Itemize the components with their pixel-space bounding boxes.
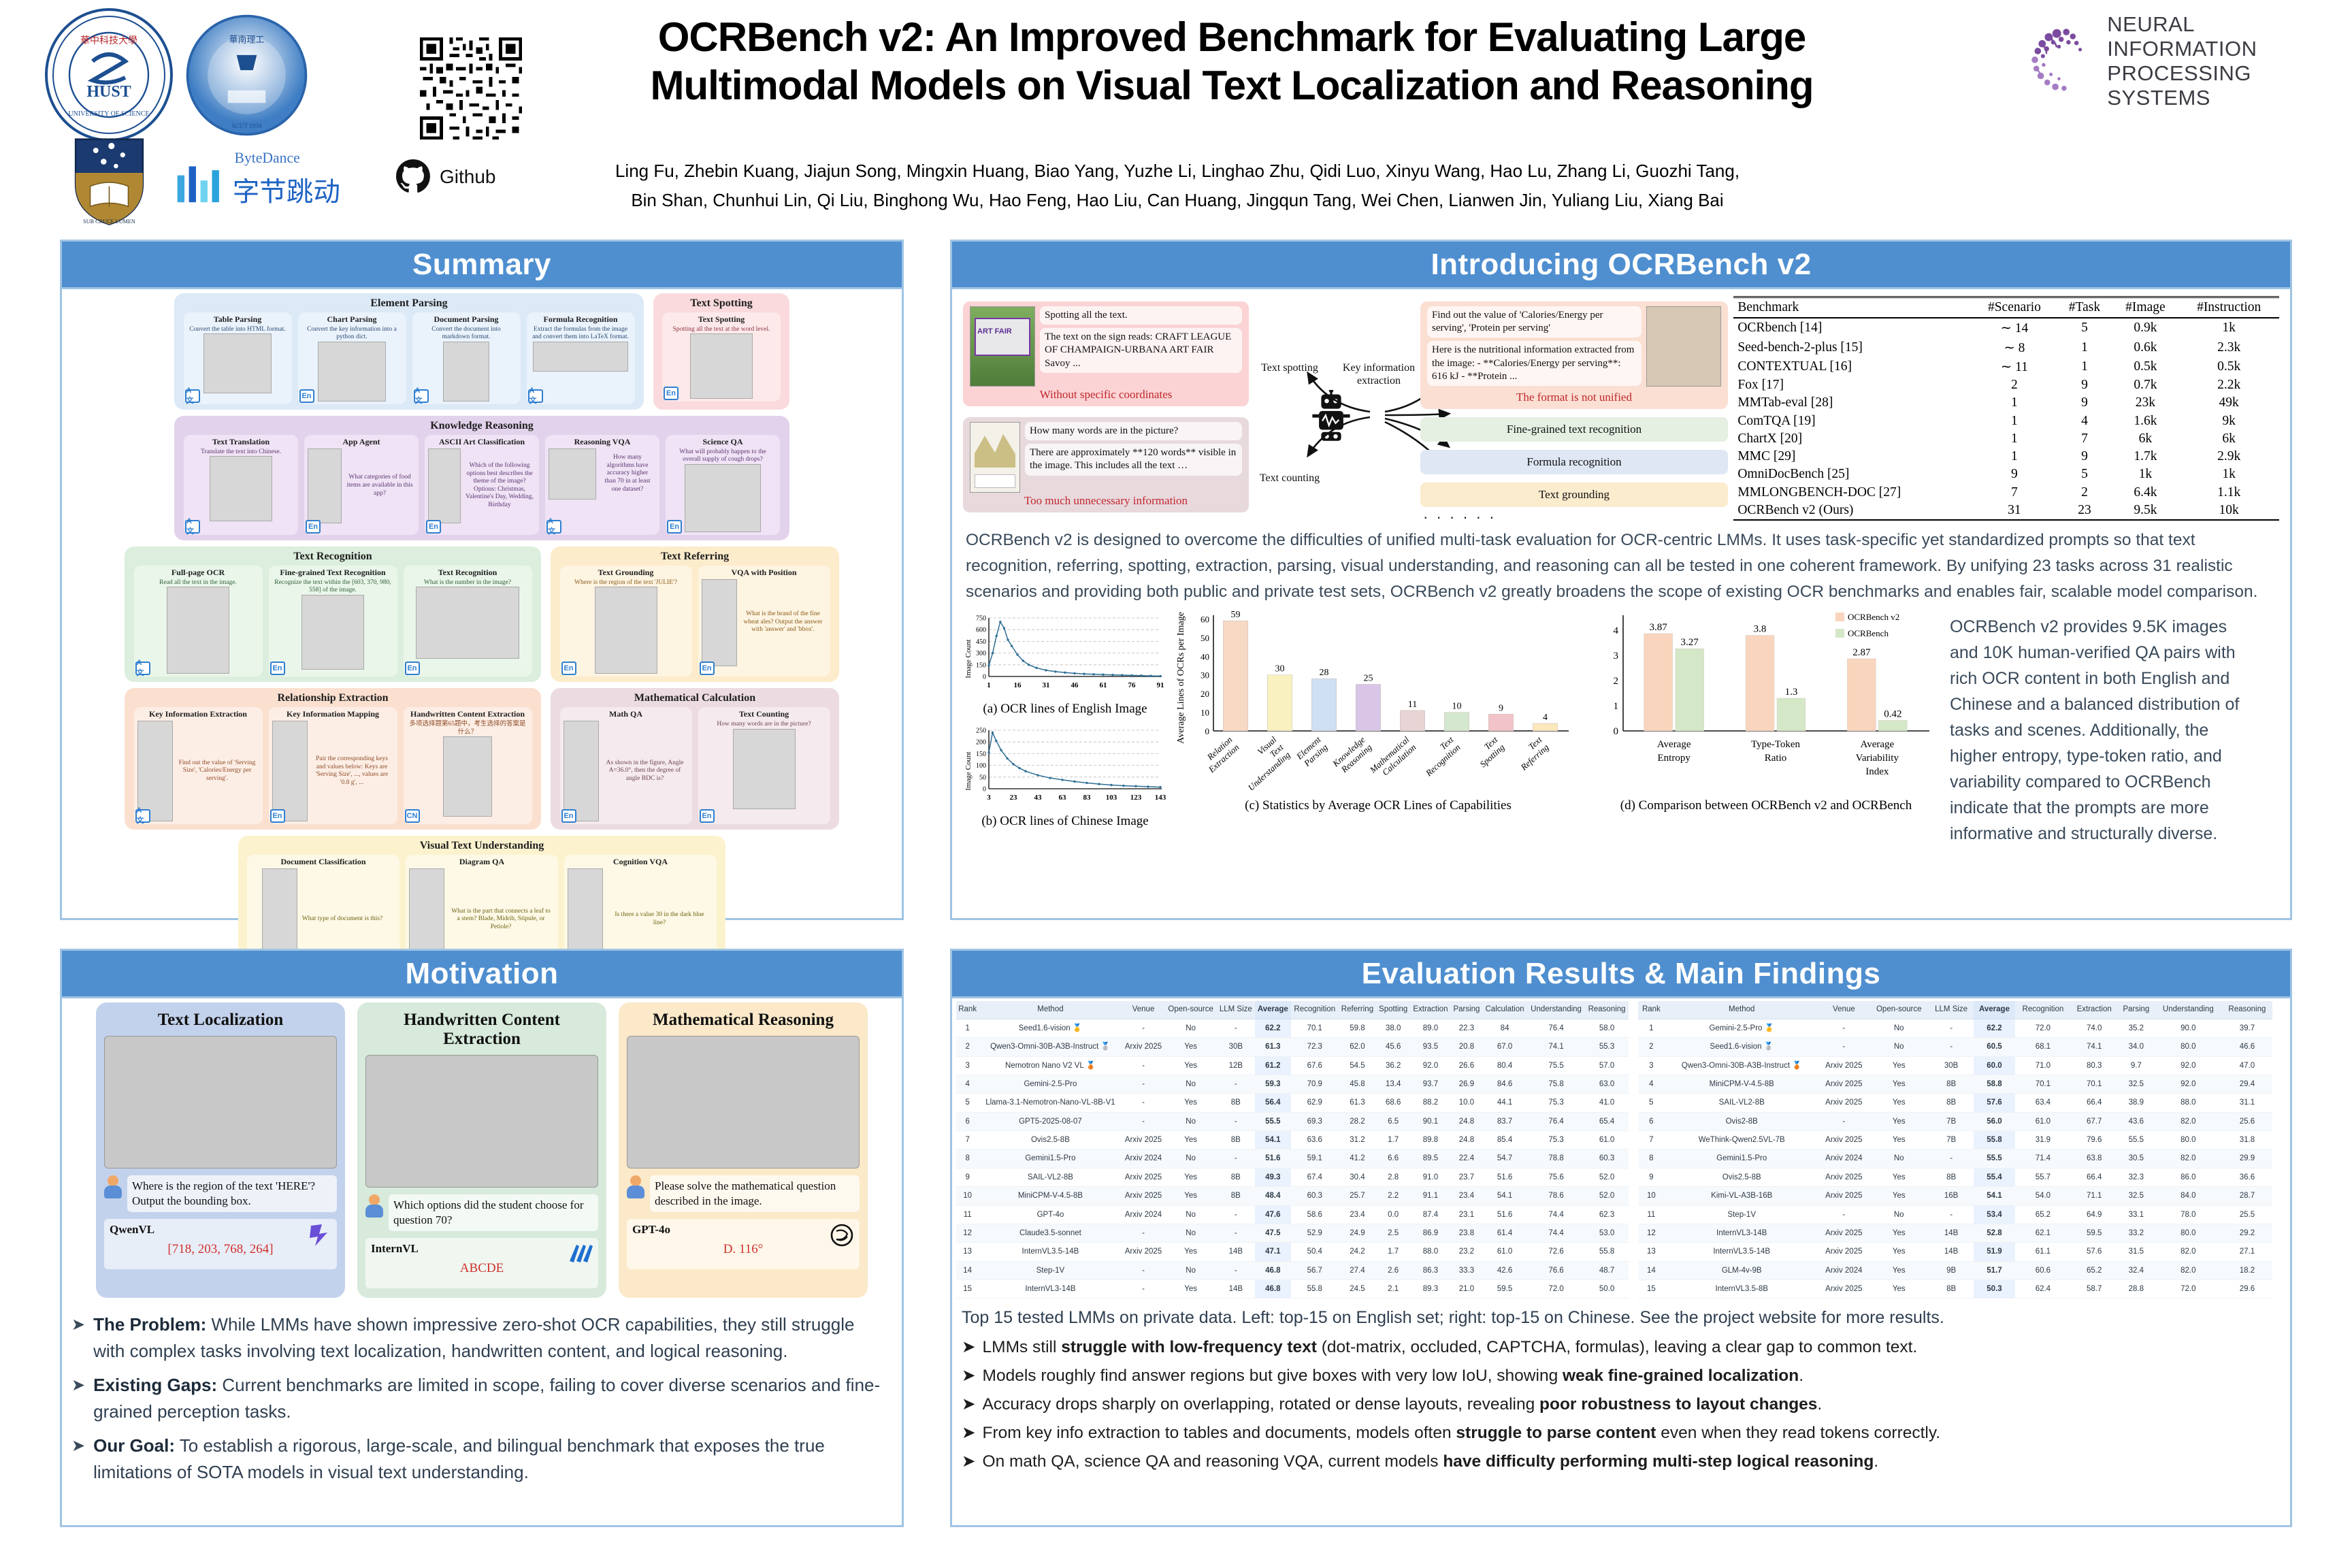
task-card[interactable]: Text GroundingWhere is the region of the…	[560, 566, 692, 676]
leaderboard-cell: 57.0	[1585, 1056, 1629, 1075]
data-point	[987, 751, 990, 753]
summary-panel-header: Summary	[62, 242, 902, 289]
leaderboard-cell: 23.7	[1451, 1168, 1482, 1186]
task-card-prompt: As shown in the figure, Angle A=36.0°, t…	[602, 759, 689, 783]
motivation-answer-box: QwenVL[718, 203, 768, 264]	[104, 1219, 337, 1269]
motivation-model-answer: D. 116°	[632, 1242, 854, 1257]
leaderboard-cell: 6.6	[1376, 1149, 1410, 1168]
leaderboard-cell: 51.6	[1482, 1205, 1527, 1224]
data-point	[1018, 767, 1020, 769]
leaderboard-cell: 71.4	[2015, 1149, 2070, 1168]
data-point	[1006, 757, 1008, 759]
task-card-thumbnail	[203, 333, 272, 393]
leaderboard-cell: 54.5	[1339, 1056, 1376, 1075]
leaderboard-cell: 93.5	[1410, 1038, 1451, 1056]
leaderboard-cell: 14B	[1217, 1243, 1255, 1261]
leaderboard-cell: 31.2	[1339, 1131, 1376, 1149]
leaderboard-row: 8Gemini1.5-ProArxiv 2024No-55.571.463.83…	[1638, 1149, 2272, 1168]
leaderboard-cell: 55.8	[1291, 1280, 1339, 1298]
leaderboard-cell: 15	[956, 1280, 979, 1298]
leaderboard-cell: 74.4	[1527, 1205, 1585, 1224]
finding-item: ➤On math QA, science QA and reasoning VQ…	[962, 1450, 2281, 1474]
evaluation-title: Evaluation Results & Main Findings	[1362, 957, 1881, 991]
y-tick: 0	[983, 673, 986, 681]
leaderboard-cell: 62.1	[2015, 1224, 2070, 1242]
leaderboard-col-header: Rank	[956, 1001, 979, 1019]
x-tick: 143	[1155, 794, 1166, 802]
task-card[interactable]: Formula RecognitionExtract the formulas …	[527, 312, 635, 404]
y-tick: 50	[979, 774, 986, 781]
bullet-arrow-icon: ➤	[71, 1311, 85, 1365]
task-card-prompt: How many words are in the picture?	[715, 721, 813, 729]
y-tick: 30	[1200, 670, 1209, 680]
data-point	[1140, 674, 1142, 676]
leaderboard-cell: 92.0	[2155, 1056, 2222, 1075]
task-card[interactable]: Text SpottingSpotting all the text at th…	[662, 312, 781, 402]
task-taxonomy-figure: Element ParsingTable ParsingConvert the …	[62, 289, 902, 986]
poster-root: HUST 華中科技大學 UNIVERSITY OF SCIENCE 華南理工 S…	[0, 0, 2352, 1568]
task-card[interactable]: App AgentWhat categories of food items a…	[304, 435, 419, 535]
taxonomy-row: Element ParsingTable ParsingConvert the …	[69, 293, 895, 410]
bar-value-label: 3.27	[1681, 637, 1699, 648]
task-card-prompt: Which of the following options best desc…	[463, 462, 536, 509]
leaderboard-row: 5SAIL-VL2-8BArxiv 2025Yes8B57.663.466.43…	[1638, 1094, 2272, 1112]
data-point	[1102, 673, 1104, 675]
leaderboard-cell: 89.0	[1410, 1019, 1451, 1037]
motivation-model-name: GPT-4o	[632, 1223, 854, 1237]
leaderboard-cell: 70.1	[2015, 1075, 2070, 1093]
leaderboard-cell: 71.1	[2071, 1187, 2118, 1205]
task-card-body: As shown in the figure, Angle A=36.0°, t…	[563, 721, 689, 821]
neurips-mark	[2025, 24, 2097, 98]
bench-table-cell: 1k	[2112, 465, 2178, 483]
leaderboard-cell: 51.9	[1974, 1243, 2016, 1261]
leaderboard-col-header: Open-source	[1869, 1001, 1929, 1019]
bench-table-row: OmniDocBench [25]951k1k	[1733, 465, 2279, 483]
y-tick: 0	[1614, 726, 1619, 737]
chart-b-caption: (b) OCR lines of Chinese Image	[963, 814, 1167, 829]
leaderboard-cell: 28.8	[2118, 1280, 2155, 1298]
motivation-model-answer: [718, 203, 768, 264]	[110, 1242, 331, 1257]
leaderboard-row: 6GPT5-2025-08-07-No-55.569.328.26.590.12…	[956, 1112, 1629, 1130]
task-card[interactable]: Key Information ExtractionFind out the v…	[134, 707, 263, 824]
leaderboard-cell: 63.8	[2071, 1149, 2118, 1168]
leaderboard-row: 15InternVL3.5-8BArxiv 2025Yes8B50.362.45…	[1638, 1280, 2272, 1298]
chart-c-ylabel: Average Lines of OCRs per Image	[1176, 612, 1186, 744]
language-badge: En	[270, 661, 285, 675]
bullet-arrow-icon: ➤	[71, 1433, 85, 1486]
x-tick: 1	[987, 681, 991, 689]
motivation-answer-box: InternVLABCDE	[365, 1238, 598, 1288]
motivation-question-row: Which options did the student choose for…	[365, 1194, 598, 1231]
bar-value-label: 9	[1499, 703, 1503, 713]
leaderboard-cell: 8B	[1217, 1131, 1255, 1149]
leaderboard-cell: 44.1	[1482, 1094, 1527, 1112]
leaderboard-row: 2Seed1.6-vision 🥈-No-60.568.174.134.080.…	[1638, 1038, 2272, 1056]
leaderboard-cell: Nemotron Nano V2 VL 🥉	[979, 1056, 1122, 1075]
leaderboard-cell: 54.1	[1974, 1187, 2016, 1205]
leaderboard-cell: 1	[1638, 1019, 1665, 1037]
leaderboard-row: 14Step-1V-No-46.856.727.42.686.333.342.6…	[956, 1261, 1629, 1279]
bench-table-cell: 1	[1972, 412, 2057, 430]
task-card-prompt: What will probably happen to the overall…	[669, 448, 777, 464]
leaderboard-cell: Gemini1.5-Pro	[979, 1149, 1122, 1168]
leaderboard-cell: 36.2	[1376, 1056, 1410, 1075]
motivation-bullet: ➤Existing Gaps: Current benchmarks are l…	[71, 1372, 887, 1425]
leaderboard-col-header: LLM Size	[1929, 1001, 1974, 1019]
task-card[interactable]: Key Information MappingPair the correspo…	[269, 707, 397, 824]
leaderboard-cell: -	[1217, 1261, 1255, 1279]
taxonomy-row: Relationship ExtractionKey Information E…	[69, 688, 895, 830]
task-card-title: Full-page OCR	[171, 568, 225, 578]
leaderboard-col-header: Method	[1665, 1001, 1819, 1019]
leaderboard-row: 4Gemini-2.5-Pro-No-59.370.945.813.493.72…	[956, 1075, 1629, 1093]
task-card[interactable]: ASCII Art ClassificationWhich of the fol…	[425, 435, 539, 535]
taxonomy-group-title: Relationship Extraction	[131, 692, 534, 704]
leaderboard-cell: 8B	[1929, 1094, 1974, 1112]
leaderboard-cell: 7B	[1929, 1112, 1974, 1130]
user-avatar-icon	[104, 1175, 122, 1198]
leaderboard-cell: 9	[956, 1168, 979, 1186]
user-avatar-icon	[365, 1194, 383, 1218]
leaderboard-cell: 53.0	[1585, 1224, 1629, 1242]
pipeline-task-1: Formula recognition	[1420, 450, 1728, 474]
leaderboard-cell: -	[1819, 1019, 1869, 1037]
task-card-thumbnail	[167, 587, 229, 674]
taxonomy-card-list: Full-page OCRRead all the text in the im…	[131, 566, 534, 676]
motivation-card-image	[627, 1036, 860, 1169]
leaderboard-cell: 75.6	[1527, 1168, 1585, 1186]
bench-table-cell: 1k	[2178, 318, 2279, 338]
leaderboard-cell: 56.7	[1291, 1261, 1339, 1279]
chart-c-svg: Average Lines of OCRs per Image 01020304…	[1174, 610, 1582, 794]
leaderboard-cell: 47.1	[1255, 1243, 1291, 1261]
leaderboard-cell: 79.6	[2071, 1131, 2118, 1149]
leaderboard-cell: 5	[956, 1094, 979, 1112]
bench-table-cell: 1.1k	[2178, 483, 2279, 501]
leaderboard-cell: GLM-4v-9B	[1665, 1261, 1819, 1279]
bench-table-cell: 9	[2057, 394, 2112, 412]
leaderboard-row: 10Kimi-VL-A3B-16BArxiv 2025Yes16B54.154.…	[1638, 1187, 2272, 1205]
leaderboard-cell: 35.2	[2118, 1019, 2155, 1037]
bench-table-cell: 6k	[2112, 430, 2178, 448]
task-card-thumbnail	[428, 448, 461, 523]
bench-table-cell: 1	[2057, 338, 2112, 357]
leaderboard-cell: 13	[956, 1243, 979, 1261]
bench-table-cell: MMTab-eval [28]	[1733, 394, 1972, 412]
taxonomy-card-list: Key Information ExtractionFind out the v…	[131, 707, 534, 824]
leaderboard-col-header: Method	[979, 1001, 1122, 1019]
finding-arrow-icon: ➤	[962, 1393, 976, 1417]
leaderboard-cell: 50.0	[1585, 1280, 1629, 1298]
pipeline-card-spotting: ART FAIR Spotting all the text. The text…	[963, 301, 1249, 406]
data-point	[1159, 786, 1161, 788]
leaderboard-cell: 67.0	[1482, 1038, 1527, 1056]
leaderboard-col-header: Understanding	[1527, 1001, 1585, 1019]
data-point	[987, 664, 990, 666]
leaderboard-cell: 12	[1638, 1224, 1665, 1242]
leaderboard-cell: 74.1	[2071, 1038, 2118, 1056]
leaderboard-cell: Arxiv 2024	[1122, 1149, 1165, 1168]
task-card[interactable]: Text RecognitionWhat is the number in th…	[404, 566, 532, 676]
leaderboard-cell: 76.6	[1527, 1261, 1585, 1279]
leaderboard-cell: 13	[1638, 1243, 1665, 1261]
leaderboard-cell: Arxiv 2025	[1819, 1131, 1869, 1149]
leaderboard-cell: 80.0	[2155, 1038, 2222, 1056]
bench-col-header: #Task	[2057, 297, 2112, 318]
bench-table-cell: 10k	[2178, 502, 2279, 520]
leaderboard-cell: 11	[956, 1205, 979, 1224]
task-card-thumbnail	[308, 448, 342, 523]
svg-text:華中科技大學: 華中科技大學	[80, 35, 137, 46]
intro-panel-header: Introducing OCRBench v2	[952, 242, 2290, 289]
y-tick: 100	[976, 762, 986, 770]
finding-item: ➤Models roughly find answer regions but …	[962, 1365, 2281, 1388]
task-card[interactable]: Math QAAs shown in the figure, Angle A=3…	[560, 707, 692, 824]
leaderboard-col-header: Recognition	[2015, 1001, 2070, 1019]
leaderboard-cell: 33.3	[1451, 1261, 1482, 1279]
pipeline-arrow-label-spotting: Text spotting	[1258, 361, 1321, 374]
language-badge: En	[561, 809, 576, 823]
leaderboard-cell: 55.8	[1585, 1243, 1629, 1261]
leaderboard-col-header: Calculation	[1482, 1001, 1527, 1019]
leaderboard-cell: 55.8	[1974, 1131, 2016, 1149]
taxonomy-card-list: Table ParsingConvert the table into HTML…	[181, 312, 637, 404]
taxonomy-group-text-recognition: Text RecognitionFull-page OCRRead all th…	[125, 546, 541, 682]
y-tick: 600	[976, 626, 986, 634]
y-tick: 3	[1614, 651, 1619, 661]
leaderboard-cell: 42.6	[1482, 1261, 1527, 1279]
leaderboard-cell: 55.3	[1585, 1038, 1629, 1056]
leaderboard-cell: MiniCPM-V-4.5-8B	[979, 1187, 1122, 1205]
leaderboard-cell: -	[1122, 1261, 1165, 1279]
x-tick: 123	[1130, 794, 1142, 802]
motivation-question-row: Please solve the mathematical question d…	[627, 1175, 860, 1212]
leaderboard-cell: 25.6	[2222, 1112, 2272, 1130]
bench-table-cell: 5	[2057, 465, 2112, 483]
leaderboard-cell: 86.0	[2155, 1168, 2222, 1186]
leaderboard-cell: 75.8	[1527, 1075, 1585, 1093]
bench-table-cell: 9	[2057, 376, 2112, 394]
data-point	[1122, 784, 1124, 786]
task-card-title: Science QA	[703, 438, 743, 447]
bench-col-header: #Instruction	[2178, 297, 2279, 318]
leaderboard-cell: 14B	[1217, 1280, 1255, 1298]
task-card[interactable]: Science QAWhat will probably happen to t…	[666, 435, 780, 535]
leaderboard-cell: 33.2	[2118, 1224, 2155, 1242]
bench-table-cell: 2.2k	[2178, 376, 2279, 394]
leaderboard-cell: -	[1217, 1205, 1255, 1224]
leaderboard-tables: RankMethodVenueOpen-sourceLLM SizeAverag…	[952, 998, 2290, 1298]
leaderboard-cell: -	[1122, 1075, 1165, 1093]
pipeline-card-counting: How many words are in the picture? There…	[963, 417, 1249, 512]
motivation-examples: Text LocalizationWhere is the region of …	[62, 998, 902, 1298]
bar-value-label: 25	[1364, 673, 1373, 683]
leaderboard-cell: 46.8	[1255, 1280, 1291, 1298]
leaderboard-cell: 32.5	[2118, 1075, 2155, 1093]
leaderboard-cell: Kimi-VL-A3B-16B	[1665, 1187, 1819, 1205]
bench-table-row: OCRbench [14]∼ 1450.9k1k	[1733, 318, 2279, 338]
motivation-question-row: Where is the region of the text 'HERE'? …	[104, 1175, 337, 1212]
leaderboard-col-header: LLM Size	[1217, 1001, 1255, 1019]
leaderboard-cell: -	[1217, 1112, 1255, 1130]
leaderboard-cell: 59.8	[1339, 1019, 1376, 1037]
bar-value-label: 3.8	[1754, 623, 1767, 634]
leaderboard-cell: Ovis2-8B	[1665, 1112, 1819, 1130]
leaderboard-cell: WeThink-Qwen2.5VL-7B	[1665, 1131, 1819, 1149]
leaderboard-cell: 63.6	[1291, 1131, 1339, 1149]
leaderboard-cell: 92.0	[2155, 1075, 2222, 1093]
leaderboard-cell: 2.8	[1376, 1168, 1410, 1186]
language-badge: A文	[414, 389, 429, 403]
leaderboard-cell: 9	[1638, 1168, 1665, 1186]
task-card[interactable]: Document ParsingConvert the document int…	[412, 312, 521, 404]
leaderboard-cell: 30.5	[2118, 1149, 2155, 1168]
task-card-thumbnail	[690, 333, 753, 399]
data-point	[1003, 627, 1005, 629]
bench-table-cell: 1	[2057, 357, 2112, 376]
leaderboard-cell: Yes	[1869, 1168, 1929, 1186]
leaderboard-cell: 86.3	[1410, 1261, 1451, 1279]
bar-value-label: 3.87	[1650, 622, 1668, 633]
motivation-example-card: Mathematical ReasoningPlease solve the m…	[619, 1002, 868, 1298]
bench-table-cell: MMC [29]	[1733, 448, 1972, 465]
leaderboard-cell: 61.0	[1482, 1243, 1527, 1261]
task-card[interactable]: Full-page OCRRead all the text in the im…	[134, 566, 263, 676]
data-point	[1092, 673, 1094, 675]
leaderboard-cell: 47.6	[1255, 1205, 1291, 1224]
leaderboard-row: 2Qwen3-Omni-30B-A3B-Instruct 🥈Arxiv 2025…	[956, 1038, 1629, 1056]
bench-table-cell: 6.4k	[2112, 483, 2178, 501]
task-card[interactable]: Reasoning VQAHow many algorithms have ac…	[545, 435, 659, 535]
svg-text:UNIVERSITY OF SCIENCE: UNIVERSITY OF SCIENCE	[68, 110, 149, 118]
leaderboard-cell: Arxiv 2025	[1819, 1243, 1869, 1261]
bar-value-label: 0.42	[1884, 708, 1901, 719]
leaderboard-row: 7WeThink-Qwen2.5VL-7BArxiv 2025Yes7B55.8…	[1638, 1131, 2272, 1149]
leaderboard-cell: 6	[956, 1112, 979, 1130]
leaderboard-cell: 88.0	[1410, 1243, 1451, 1261]
data-point	[1130, 674, 1132, 676]
bar	[1267, 674, 1292, 730]
chart-b-svg: Image Count 050100150200250 323436383103…	[963, 722, 1167, 809]
leaderboard-cell: -	[1122, 1056, 1165, 1075]
language-badge: En	[667, 520, 682, 534]
leaderboard-row: 1Gemini-2.5-Pro 🥇-No-62.272.074.035.290.…	[1638, 1019, 2272, 1037]
bench-table-cell: 0.5k	[2112, 357, 2178, 376]
task-card-thumbnail	[533, 342, 628, 372]
pipeline-card-kie: Find out the value of 'Calories/Energy p…	[1420, 301, 1728, 409]
leaderboard-cell: Seed1.6-vision 🥈	[1665, 1038, 1819, 1056]
leaderboard-cell: 55.5	[2118, 1131, 2155, 1149]
bench-table-cell: 0.9k	[2112, 318, 2178, 338]
taxonomy-group-relationship-extraction: Relationship ExtractionKey Information E…	[125, 688, 541, 830]
leaderboard-col-header: Extraction	[1410, 1001, 1451, 1019]
motivation-question: Please solve the mathematical question d…	[650, 1175, 860, 1212]
svg-text:華南理工: 華南理工	[229, 34, 265, 44]
leaderboard-cell: 91.1	[1410, 1187, 1451, 1205]
leaderboard-cell: 65.4	[1585, 1112, 1629, 1130]
bar-value-label: 11	[1408, 699, 1417, 709]
finding-item: ➤Accuracy drops sharply on overlapping, …	[962, 1393, 2281, 1417]
bench-table-row: OCRBench v2 (Ours)31239.5k10k	[1733, 502, 2279, 520]
leaderboard-cell: 76.4	[1527, 1019, 1585, 1037]
legend-swatch	[1835, 629, 1844, 638]
language-badge: En	[664, 387, 679, 400]
leaderboard-cell: 55.4	[1974, 1168, 2016, 1186]
motivation-model-answer: ABCDE	[371, 1261, 593, 1276]
leaderboard-cell: 58.6	[1291, 1205, 1339, 1224]
bar	[1847, 659, 1876, 731]
language-badge: En	[405, 661, 420, 675]
leaderboard-cell: 55.7	[2015, 1168, 2070, 1186]
leaderboard-cell: Arxiv 2025	[1819, 1168, 1869, 1186]
leaderboard-cell: 52.9	[1291, 1224, 1339, 1242]
motivation-example-card: Handwritten Content ExtractionWhich opti…	[357, 1002, 606, 1298]
leaderboard-row: 12Claude3.5-sonnet-No-47.552.924.92.586.…	[956, 1224, 1629, 1242]
task-card[interactable]: Text CountingHow many words are in the p…	[698, 707, 830, 824]
bench-table-cell: 4	[2057, 412, 2112, 430]
chart-b-ylabel: Image Count	[964, 751, 973, 790]
task-card-prompt: How many algorithms have accuracy higher…	[599, 454, 656, 493]
language-badge: En	[270, 809, 285, 823]
leaderboard-cell: MiniCPM-V-4.5-8B	[1665, 1075, 1819, 1093]
task-card[interactable]: Text TranslationTranslate the text into …	[184, 435, 298, 535]
leaderboard-cell: 53.4	[1974, 1205, 2016, 1224]
leaderboard-cell: Claude3.5-sonnet	[979, 1224, 1122, 1242]
task-card[interactable]: Chart ParsingConvert the key information…	[298, 312, 406, 404]
bench-table-cell: ∼ 8	[1972, 338, 2057, 357]
task-card-title: Handwritten Content Extraction	[410, 710, 525, 719]
leaderboard-cell: 8B	[1217, 1094, 1255, 1112]
leaderboard-cell: 64.9	[2071, 1205, 2118, 1224]
bar	[1746, 635, 1774, 730]
leaderboard-cell: 14B	[1929, 1224, 1974, 1242]
leaderboard-cell: 65.2	[2015, 1205, 2070, 1224]
leaderboard-cell: 89.8	[1410, 1131, 1451, 1149]
y-tick: 1	[1614, 701, 1619, 712]
leaderboard-cell: 9.7	[2118, 1056, 2155, 1075]
leaderboard-cell: Ovis2.5-8B	[979, 1131, 1122, 1149]
data-point	[1149, 674, 1151, 676]
leaderboard-cell: 31.5	[2118, 1243, 2155, 1261]
task-card[interactable]: Handwritten Content Extraction多项选择题第65题中…	[404, 707, 532, 824]
leaderboard-cell: Ovis2.5-8B	[1665, 1168, 1819, 1186]
bench-table-cell: MMLONGBENCH-DOC [27]	[1733, 483, 1972, 501]
leaderboard-cell: -	[1122, 1094, 1165, 1112]
leaderboard-cell: 30B	[1217, 1038, 1255, 1056]
data-point	[1111, 674, 1113, 676]
leaderboard-cell: 41.2	[1339, 1149, 1376, 1168]
leaderboard-cell: 80.4	[1482, 1056, 1527, 1075]
task-card[interactable]: Fine-grained Text RecognitionRecognize t…	[269, 566, 397, 676]
leaderboard-cell: Step-1V	[979, 1261, 1122, 1279]
y-tick: 4	[1614, 625, 1619, 636]
leaderboard-cell: 4	[1638, 1075, 1665, 1093]
task-card-thumbnail	[318, 342, 386, 402]
leaderboard-cell: 47.5	[1255, 1224, 1291, 1242]
data-point	[1012, 763, 1014, 765]
bench-table-cell: 2	[2057, 483, 2112, 501]
data-point	[1022, 659, 1024, 661]
taxonomy-group-title: Text Spotting	[660, 297, 783, 310]
task-card[interactable]: Table ParsingConvert the table into HTML…	[184, 312, 292, 404]
leaderboard-cell: 26.6	[1451, 1056, 1482, 1075]
leaderboard-cell: 90.1	[1410, 1112, 1451, 1130]
task-card[interactable]: VQA with PositionWhat is the brand of th…	[698, 566, 830, 676]
motivation-example-card: Text LocalizationWhere is the region of …	[96, 1002, 345, 1298]
taxonomy-group-element-parsing: Element ParsingTable ParsingConvert the …	[174, 293, 644, 410]
bar	[1533, 723, 1557, 731]
